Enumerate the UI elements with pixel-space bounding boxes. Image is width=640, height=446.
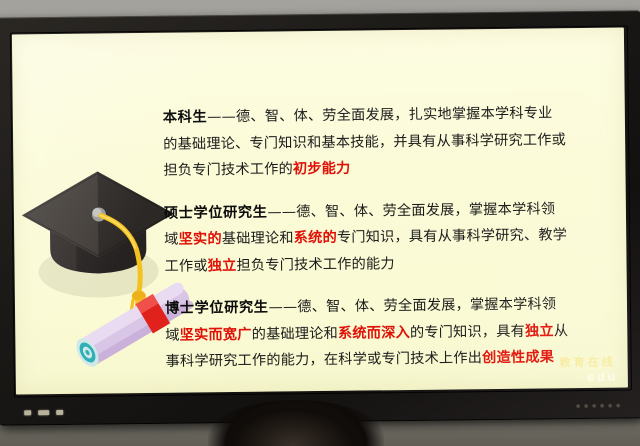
text-line: 工作或独立担负专门技术工作的能力: [164, 248, 616, 280]
paragraph-heading: 硕士学位研究生: [164, 204, 268, 221]
text-run: 工作或: [164, 258, 207, 274]
text-line: 域坚实的基础理论和系统的专门知识，具有从事科学研究、教学: [164, 222, 616, 254]
text-run: 域: [165, 327, 180, 343]
watermark-primary: 教育在线: [560, 354, 616, 371]
text-run: 担负专门技术工作的能力: [236, 256, 394, 274]
text-run: 基础理论和: [222, 230, 294, 247]
grille-dot: [576, 404, 580, 408]
menu-button[interactable]: [38, 410, 49, 415]
text-line: 事科学研究工作的能力，在科学或专门技术上作出创造性成果: [165, 344, 617, 376]
text-run: 从: [554, 323, 569, 339]
text-run: ——德、智、体、劳全面发展，扎实地掌握本学科专业: [207, 105, 552, 125]
text-run: ——德、智、体、劳全面发展，掌握本学科领: [268, 296, 556, 315]
grille-dot: [608, 404, 612, 408]
paragraph-doctorate: 博士学位研究生——德、智、体、劳全面发展，掌握本学科领域坚实而宽广的基础理论和系…: [165, 291, 618, 376]
text-run: 事科学研究工作的能力，在科学或专门技术上作出: [166, 350, 483, 370]
highlighted-term: 创造性成果: [482, 349, 554, 366]
slide-text-body: 本科生——德、智、体、劳全面发展，扎实地掌握本学科专业的基础理论、专门知识和基本…: [163, 100, 618, 376]
highlighted-term: 独立: [208, 257, 237, 273]
paragraph-undergraduate: 本科生——德、智、体、劳全面发展，扎实地掌握本学科专业的基础理论、专门知识和基本…: [163, 100, 616, 185]
text-run: ——德、智、体、劳全面发展，掌握本学科领: [267, 201, 555, 220]
scene-root: 本科生——德、智、体、劳全面发展，扎实地掌握本学科专业的基础理论、专门知识和基本…: [0, 0, 640, 446]
grille-dot: [592, 404, 596, 408]
paragraph-master: 硕士学位研究生——德、智、体、劳全面发展，掌握本学科领域坚实的基础理论和系统的专…: [164, 195, 617, 280]
grille-dot: [616, 404, 620, 408]
text-run: 的基础理论和: [252, 325, 339, 342]
text-run: 的专门知识，具有: [410, 323, 525, 340]
paragraph-heading: 博士学位研究生: [165, 300, 269, 317]
grille-dot: [584, 404, 588, 408]
highlighted-term: 系统的: [294, 230, 337, 246]
text-run: 的基础理论、专门知识和基本技能，并具有从事科学研究工作或: [163, 132, 566, 153]
watermark-secondary: edu: [586, 370, 617, 384]
text-run: 担负专门技术工作的: [163, 161, 293, 178]
highlighted-term: 坚实而宽广: [180, 326, 252, 343]
display-control-buttons[interactable]: [24, 410, 63, 415]
display-screen: 本科生——德、智、体、劳全面发展，扎实地掌握本学科专业的基础理论、专门知识和基本…: [12, 28, 628, 395]
power-button[interactable]: [24, 410, 31, 415]
speaker-grille: [576, 404, 620, 408]
source-button[interactable]: [56, 410, 63, 415]
wall-mounted-display[interactable]: 本科生——德、智、体、劳全面发展，扎实地掌握本学科专业的基础理论、专门知识和基本…: [0, 10, 640, 425]
text-run: 域: [164, 232, 179, 248]
highlighted-term: 系统而深入: [338, 324, 410, 341]
highlighted-term: 独立: [525, 323, 554, 339]
text-line: 的基础理论、专门知识和基本技能，并具有从事科学研究工作或: [163, 126, 615, 158]
display-bezel: 本科生——德、智、体、劳全面发展，扎实地掌握本学科专业的基础理论、专门知识和基本…: [0, 10, 640, 425]
highlighted-term: 初步能力: [293, 161, 351, 178]
text-run: 专门知识，具有从事科学研究、教学: [337, 227, 567, 246]
grille-dot: [600, 404, 604, 408]
highlighted-term: 坚实的: [179, 231, 222, 247]
paragraph-heading: 本科生: [163, 109, 208, 126]
text-line: 担负专门技术工作的初步能力: [163, 153, 615, 185]
